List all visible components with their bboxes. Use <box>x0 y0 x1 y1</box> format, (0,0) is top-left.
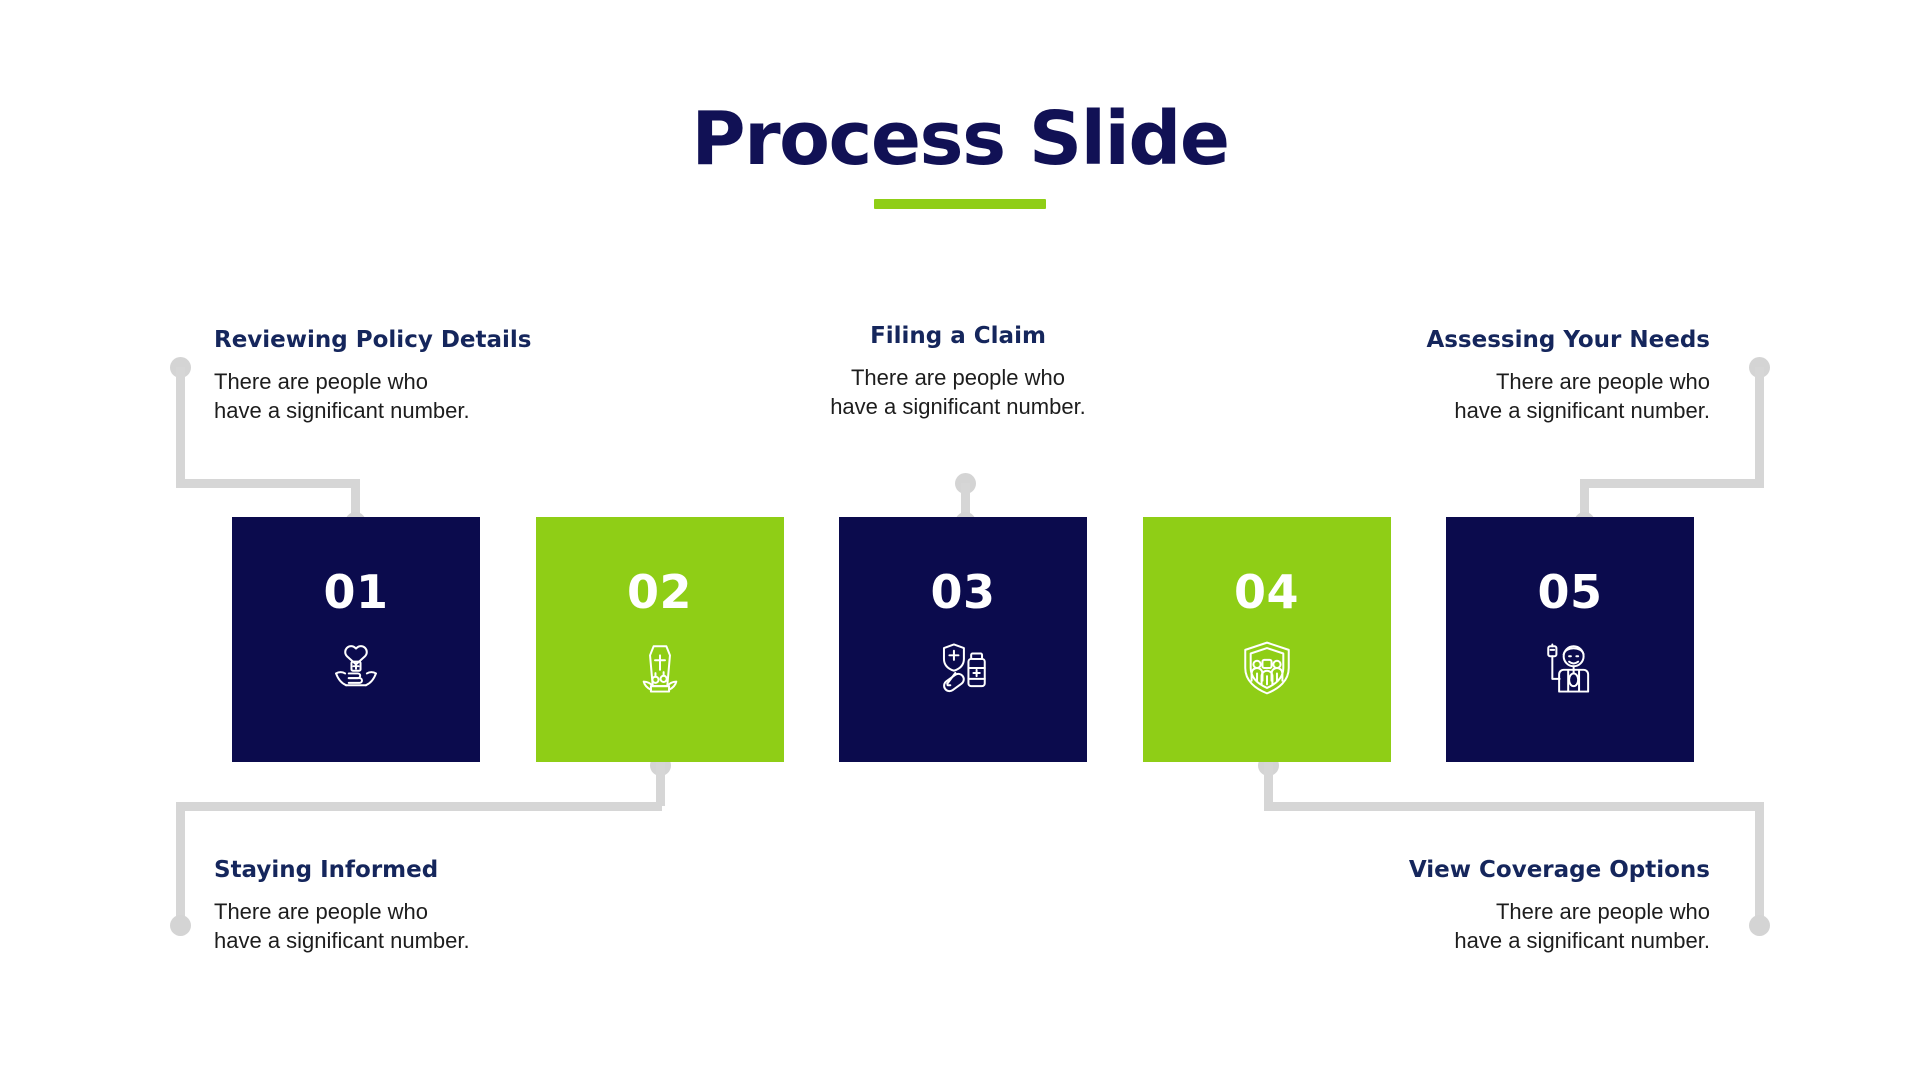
connector-dot-outer-04 <box>1749 915 1770 936</box>
connector-line-drop-02 <box>656 762 665 806</box>
process-slide: Process Slide <box>0 0 1920 1080</box>
process-step-boxes: 01 02 <box>232 517 1694 762</box>
step-number-01: 01 <box>323 569 388 615</box>
page-title: Process Slide <box>0 102 1920 177</box>
callout-title-01: Reviewing Policy Details <box>214 326 634 355</box>
connector-dot-outer-02 <box>170 915 191 936</box>
callout-title-05: Assessing Your Needs <box>1290 326 1710 355</box>
process-step-box-05[interactable]: 05 <box>1446 517 1694 762</box>
connector-line-vertical-01 <box>176 367 185 483</box>
connector-line-horizontal-01 <box>176 479 360 488</box>
step-number-04: 04 <box>1234 569 1299 615</box>
step-number-03: 03 <box>930 569 995 615</box>
callout-body-04: There are people who have a significant … <box>1290 897 1710 955</box>
callout-title-04: View Coverage Options <box>1290 856 1710 885</box>
callout-step-04: View Coverage Options There are people w… <box>1290 856 1710 955</box>
callout-body-03: There are people who have a significant … <box>748 363 1168 421</box>
connector-line-horizontal-05 <box>1580 479 1764 488</box>
connector-line-vertical-05 <box>1755 367 1764 483</box>
title-underline <box>874 199 1046 209</box>
heart-in-hands-icon <box>325 637 387 699</box>
callout-body-02: There are people who have a significant … <box>214 897 634 955</box>
step-number-02: 02 <box>627 569 692 615</box>
callout-body-line1-02: There are people who <box>214 897 634 926</box>
callout-step-02: Staying Informed There are people who ha… <box>214 856 634 955</box>
process-step-box-03[interactable]: 03 <box>839 517 1087 762</box>
connector-line-horizontal-02 <box>176 802 662 811</box>
callout-body-line1-01: There are people who <box>214 367 634 396</box>
connector-line-vertical-04 <box>1755 802 1764 924</box>
process-step-box-04[interactable]: 04 <box>1143 517 1391 762</box>
process-step-box-02[interactable]: 02 <box>536 517 784 762</box>
elderly-patient-iv-icon <box>1539 637 1601 699</box>
step-number-05: 05 <box>1537 569 1602 615</box>
shield-pills-bottle-icon <box>932 637 994 699</box>
connector-line-drop-04 <box>1264 762 1273 806</box>
callout-body-line1-04: There are people who <box>1290 897 1710 926</box>
callout-body-line2-04: have a significant number. <box>1290 926 1710 955</box>
connector-line-vertical-02 <box>176 802 185 924</box>
callout-body-line1-05: There are people who <box>1290 367 1710 396</box>
title-block: Process Slide <box>0 102 1920 209</box>
family-shield-icon <box>1236 637 1298 699</box>
callout-body-line2-03: have a significant number. <box>748 392 1168 421</box>
callout-body-line2-01: have a significant number. <box>214 396 634 425</box>
casket-flowers-icon <box>629 637 691 699</box>
callout-step-03: Filing a Claim There are people who have… <box>748 322 1168 421</box>
process-step-box-01[interactable]: 01 <box>232 517 480 762</box>
callout-body-line1-03: There are people who <box>748 363 1168 392</box>
connector-line-horizontal-04 <box>1264 802 1756 811</box>
callout-title-03: Filing a Claim <box>748 322 1168 351</box>
callout-body-05: There are people who have a significant … <box>1290 367 1710 425</box>
callout-step-01: Reviewing Policy Details There are peopl… <box>214 326 634 425</box>
callout-body-line2-02: have a significant number. <box>214 926 634 955</box>
callout-title-02: Staying Informed <box>214 856 634 885</box>
callout-body-line2-05: have a significant number. <box>1290 396 1710 425</box>
callout-step-05: Assessing Your Needs There are people wh… <box>1290 326 1710 425</box>
callout-body-01: There are people who have a significant … <box>214 367 634 425</box>
